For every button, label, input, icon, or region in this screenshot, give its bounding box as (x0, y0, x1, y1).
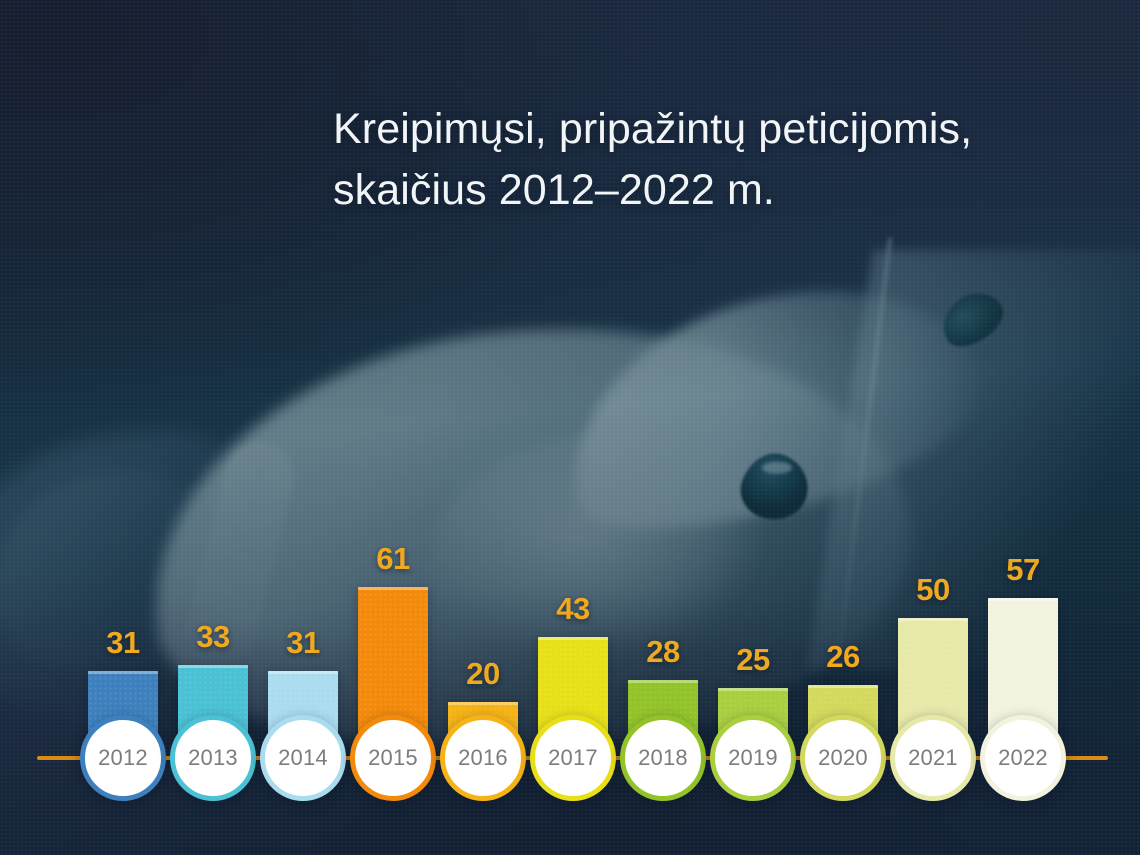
year-label: 2019 (728, 747, 778, 769)
year-badge-2017: 2017 (530, 715, 616, 801)
bar-value-2017: 43 (518, 591, 628, 627)
year-label: 2018 (638, 747, 688, 769)
bar-top-highlight (898, 618, 968, 621)
year-badge-2019: 2019 (710, 715, 796, 801)
year-badge-2016: 2016 (440, 715, 526, 801)
year-badge-2021: 2021 (890, 715, 976, 801)
year-badge-2022: 2022 (980, 715, 1066, 801)
year-badge-2018: 2018 (620, 715, 706, 801)
bar-top-highlight (268, 671, 338, 674)
year-badge-2020: 2020 (800, 715, 886, 801)
year-label: 2017 (548, 747, 598, 769)
bar-chart: 3120123320133120146120152020164320172820… (0, 0, 1140, 855)
year-label: 2020 (818, 747, 868, 769)
year-label: 2022 (998, 747, 1048, 769)
bar-top-highlight (358, 587, 428, 590)
bar-top-highlight (628, 680, 698, 683)
year-label: 2014 (278, 747, 328, 769)
bar-top-highlight (448, 702, 518, 705)
bar-top-highlight (808, 685, 878, 688)
year-label: 2016 (458, 747, 508, 769)
year-label: 2013 (188, 747, 238, 769)
year-badge-2013: 2013 (170, 715, 256, 801)
bar-top-highlight (178, 665, 248, 668)
bar-value-2015: 61 (338, 541, 448, 577)
bar-series: 3120123320133120146120152020164320172820… (0, 0, 1140, 855)
year-badge-2014: 2014 (260, 715, 346, 801)
bar-top-highlight (88, 671, 158, 674)
infographic-slide: Kreipimųsi, pripažintų peticijomis, skai… (0, 0, 1140, 855)
year-label: 2021 (908, 747, 958, 769)
bar-value-2014: 31 (248, 625, 358, 661)
bar-top-highlight (988, 598, 1058, 601)
year-label: 2015 (368, 747, 418, 769)
bar-value-2020: 26 (788, 639, 898, 675)
bar-top-highlight (538, 637, 608, 640)
bar-value-2016: 20 (428, 656, 538, 692)
bar-top-highlight (718, 688, 788, 691)
year-label: 2012 (98, 747, 148, 769)
bar-value-2022: 57 (968, 552, 1078, 588)
year-badge-2015: 2015 (350, 715, 436, 801)
year-badge-2012: 2012 (80, 715, 166, 801)
